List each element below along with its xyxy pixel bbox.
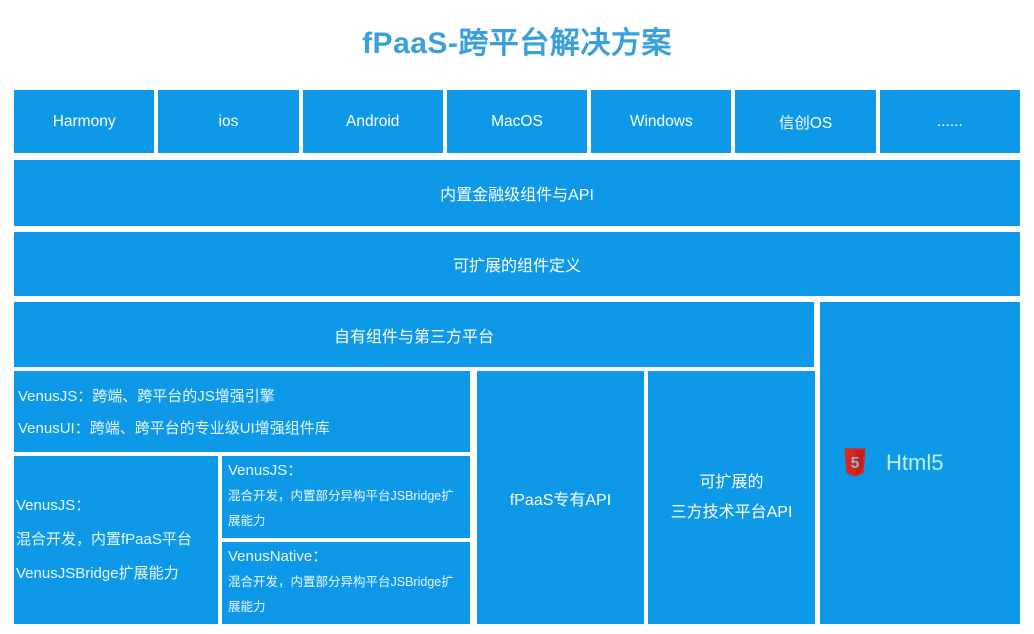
html5-logo-icon: 5 xyxy=(842,448,868,478)
venusjs-bridge-title: VenusJS： xyxy=(228,458,466,484)
band-label: 自有组件与第三方平台 xyxy=(334,323,494,347)
os-cell-xinchuangos[interactable]: 信创OS xyxy=(735,90,875,153)
html5-panel[interactable]: 5 Html5 xyxy=(820,302,1020,624)
venusnative-bridge-block[interactable]: VenusNative： 混合开发，内置部分异构平台JSBridge扩展能力 xyxy=(222,542,470,624)
venusnative-bridge-title: VenusNative： xyxy=(228,544,466,570)
svg-text:5: 5 xyxy=(851,455,860,472)
venusjs-hybrid-line2: VenusJSBridge扩展能力 xyxy=(16,557,216,591)
thirdparty-api-column[interactable]: 可扩展的 三方技术平台API xyxy=(648,371,815,624)
fpaas-proprietary-api-column[interactable]: fPaaS专有API xyxy=(477,371,644,624)
thirdparty-api-label-group: 可扩展的 三方技术平台API xyxy=(671,468,793,528)
venusjs-hybrid-block[interactable]: VenusJS： 混合开发，内置fPaaS平台 VenusJSBridge扩展能… xyxy=(14,456,218,624)
os-platform-row: Harmony ios Android MacOS Windows 信创OS .… xyxy=(14,90,1020,153)
venusjs-hybrid-line1: 混合开发，内置fPaaS平台 xyxy=(16,523,216,557)
band-label: 内置金融级组件与API xyxy=(440,181,594,205)
os-cell-harmony[interactable]: Harmony xyxy=(14,90,154,153)
os-cell-more[interactable]: ...... xyxy=(880,90,1020,153)
band-builtin-financial-components[interactable]: 内置金融级组件与API xyxy=(14,160,1020,226)
thirdparty-api-line1: 可扩展的 xyxy=(671,468,793,498)
html5-panel-inner: 5 Html5 xyxy=(842,448,943,478)
os-cell-android[interactable]: Android xyxy=(303,90,443,153)
venusnative-bridge-body: 混合开发，内置部分异构平台JSBridge扩展能力 xyxy=(228,570,466,620)
os-cell-label: Android xyxy=(346,113,399,131)
venusjs-hybrid-title: VenusJS： xyxy=(16,489,216,523)
venusui-description: VenusUI：跨端、跨平台的专业级UI增强组件库 xyxy=(18,413,466,445)
os-cell-label: ios xyxy=(219,113,239,131)
venusjs-description: VenusJS：跨端、跨平台的JS增强引擎 xyxy=(18,381,466,413)
os-cell-label: MacOS xyxy=(491,113,543,131)
os-cell-label: Windows xyxy=(630,113,693,131)
os-cell-windows[interactable]: Windows xyxy=(591,90,731,153)
os-cell-macos[interactable]: MacOS xyxy=(447,90,587,153)
venus-header-block[interactable]: VenusJS：跨端、跨平台的JS增强引擎 VenusUI：跨端、跨平台的专业级… xyxy=(14,371,470,452)
os-cell-label: Harmony xyxy=(53,113,116,131)
os-cell-ios[interactable]: ios xyxy=(158,90,298,153)
band-extensible-component-definition[interactable]: 可扩展的组件定义 xyxy=(14,232,1020,296)
fpaas-proprietary-api-label: fPaaS专有API xyxy=(510,486,611,510)
band-label: 可扩展的组件定义 xyxy=(453,252,581,276)
thirdparty-api-line2: 三方技术平台API xyxy=(671,498,793,528)
page-title: fPaaS-跨平台解决方案 xyxy=(0,18,1034,62)
band-own-and-thirdparty-platform[interactable]: 自有组件与第三方平台 xyxy=(14,302,814,367)
os-cell-label: 信创OS xyxy=(779,111,832,133)
venusjs-bridge-block[interactable]: VenusJS： 混合开发，内置部分异构平台JSBridge扩展能力 xyxy=(222,456,470,538)
diagram-canvas: fPaaS-跨平台解决方案 Harmony ios Android MacOS … xyxy=(0,0,1034,634)
html5-label: Html5 xyxy=(886,450,943,476)
venusjs-bridge-body: 混合开发，内置部分异构平台JSBridge扩展能力 xyxy=(228,484,466,534)
os-cell-label: ...... xyxy=(937,113,963,131)
